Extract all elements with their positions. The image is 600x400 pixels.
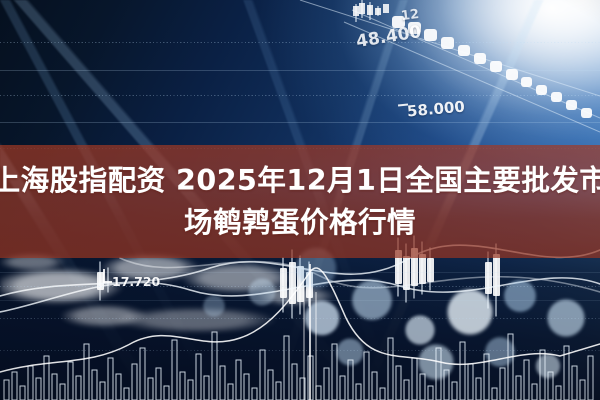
- headline-line-1: 上海股指配资 2025年12月1日全国主要批发市: [0, 161, 600, 201]
- headline-title: 上海股指配资 2025年12月1日全国主要批发市 场鹌鹑蛋价格行情: [0, 145, 600, 258]
- price-label-mid: 58.000: [406, 98, 465, 121]
- banner-image: 48.400 12 58.000 17.720 上海股指配资 2025年12月1…: [0, 0, 600, 400]
- price-label-low: 17.720: [112, 274, 160, 289]
- price-tick-stem-17720: [103, 269, 105, 283]
- price-label-high: 48.400: [355, 22, 423, 52]
- headline-line-2: 场鹌鹑蛋价格行情: [184, 203, 416, 243]
- axis-tick-label: 12: [400, 7, 420, 24]
